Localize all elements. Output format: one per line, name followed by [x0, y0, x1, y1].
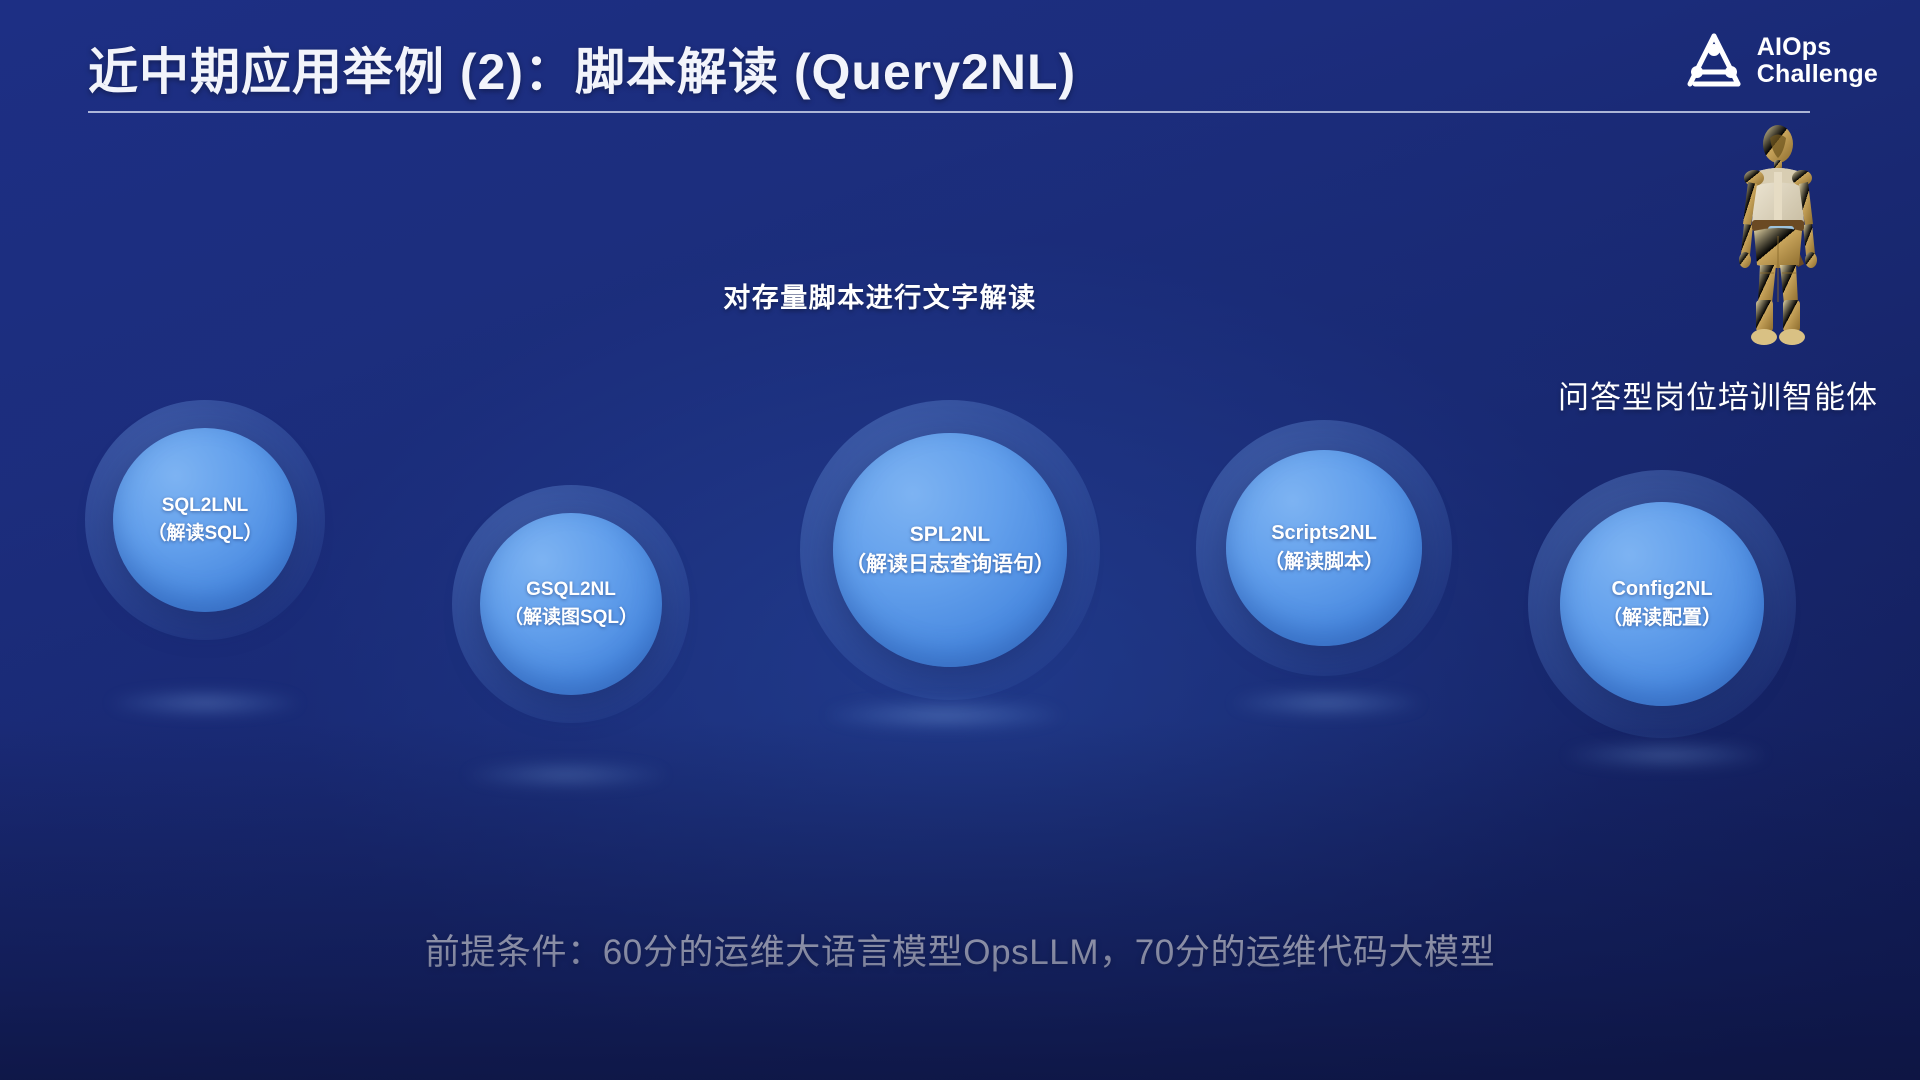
- bubble-scripts2nl[interactable]: Scripts2NL （解读脚本）: [1196, 420, 1452, 676]
- bubble-core-5[interactable]: Config2NL （解读配置）: [1560, 502, 1764, 706]
- bubble-name-1: SQL2LNL: [162, 492, 249, 520]
- bubble-name-5: Config2NL: [1611, 575, 1712, 604]
- logo-line-1: AIOps: [1757, 34, 1878, 61]
- page-title: 近中期应用举例 (2)：脚本解读 (Query2NL): [88, 32, 1076, 104]
- bubble-name-4: Scripts2NL: [1271, 519, 1377, 548]
- bubble-glow-5: [1566, 742, 1766, 768]
- agent-caption: 问答型岗位培训智能体: [1518, 372, 1918, 417]
- bubble-core-4[interactable]: Scripts2NL （解读脚本）: [1226, 450, 1422, 646]
- title-divider: [88, 111, 1810, 113]
- bubble-config2nl[interactable]: Config2NL （解读配置）: [1528, 470, 1796, 738]
- bubble-core-1[interactable]: SQL2LNL （解读SQL）: [113, 428, 297, 612]
- bubble-name-3: SPL2NL: [910, 520, 991, 550]
- logo-wordmark: AIOps Challenge: [1757, 34, 1878, 88]
- bubble-desc-5: （解读配置）: [1602, 604, 1722, 633]
- section-subtitle: 对存量脚本进行文字解读: [0, 276, 1760, 315]
- bubble-sql2lnl[interactable]: SQL2LNL （解读SQL）: [85, 400, 325, 640]
- aiops-triangle-node-mark-icon: [1681, 28, 1747, 94]
- bubble-glow-2: [466, 762, 666, 788]
- bubble-glow-3: [826, 700, 1062, 730]
- bubble-glow-1: [110, 690, 300, 716]
- aiops-challenge-logo: AIOps Challenge: [1681, 28, 1878, 94]
- golden-humanoid-robot-icon: [1690, 118, 1866, 350]
- bubble-gsql2nl[interactable]: GSQL2NL （解读图SQL）: [452, 485, 690, 723]
- bubble-desc-4: （解读脚本）: [1264, 548, 1384, 577]
- logo-line-2: Challenge: [1757, 61, 1878, 88]
- bubble-core-3[interactable]: SPL2NL （解读日志查询语句）: [833, 433, 1067, 667]
- bubble-desc-2: （解读图SQL）: [504, 604, 638, 632]
- bubble-desc-3: （解读日志查询语句）: [845, 550, 1055, 580]
- bubble-glow-4: [1232, 690, 1422, 716]
- bubble-core-2[interactable]: GSQL2NL （解读图SQL）: [480, 513, 662, 695]
- bubble-desc-1: （解读SQL）: [147, 520, 262, 548]
- footer-note: 前提条件：60分的运维大语言模型OpsLLM，70分的运维代码大模型: [0, 924, 1920, 975]
- bubble-spl2nl[interactable]: SPL2NL （解读日志查询语句）: [800, 400, 1100, 700]
- bubble-name-2: GSQL2NL: [526, 576, 616, 604]
- slide-canvas: 近中期应用举例 (2)：脚本解读 (Query2NL) AIOps Chall: [0, 0, 1920, 1080]
